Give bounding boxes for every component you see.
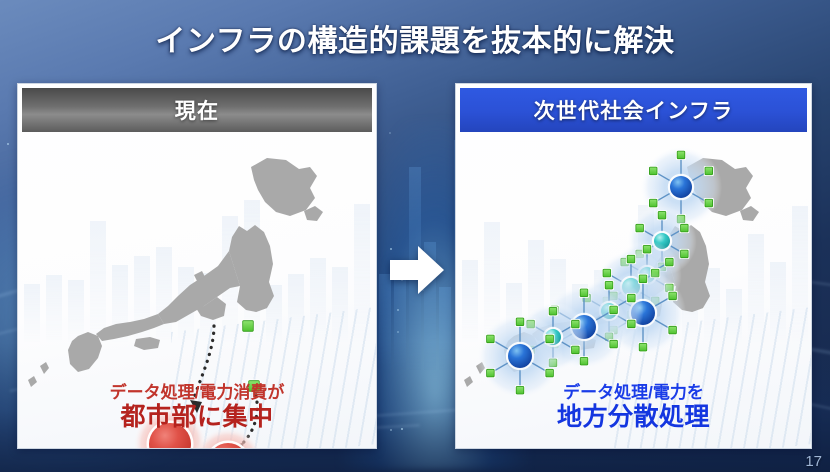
cluster-satellite-node: [626, 293, 636, 303]
panel-current-caption-line1: データ処理/電力消費が: [18, 383, 376, 403]
panel-current-caption-line2: 都市部に集中: [18, 403, 376, 433]
panel-nextgen-caption-line1: データ処理/電力を: [456, 383, 811, 403]
cluster-satellite-node: [635, 223, 645, 233]
cluster-satellite-node: [548, 306, 558, 316]
cluster-satellite-node: [609, 339, 619, 349]
cluster-satellite-node: [545, 334, 555, 344]
panel-current: 現在: [17, 83, 377, 449]
panel-nextgen: 次世代社会インフラ: [455, 83, 812, 449]
cluster-satellite-node: [485, 334, 495, 344]
panel-current-body: データ処理/電力消費が 都市部に集中: [18, 136, 376, 448]
panel-current-caption: データ処理/電力消費が 都市部に集中: [18, 383, 376, 432]
cluster-satellite-node: [579, 288, 589, 298]
panel-nextgen-caption-line2: 地方分散処理: [456, 403, 811, 433]
cluster-satellite-node: [609, 305, 619, 315]
cluster-satellite-node: [626, 319, 636, 329]
cluster-hub-sphere: [508, 344, 532, 368]
cluster-hub-sphere: [670, 176, 692, 198]
arrow-right-icon: [388, 242, 446, 298]
cluster-satellite-node: [648, 166, 658, 176]
map-landmass-current: [28, 158, 323, 387]
page-title: インフラの構造的課題を抜本的に解決: [0, 16, 830, 60]
panel-nextgen-header: 次世代社会インフラ: [460, 88, 807, 132]
panel-nextgen-caption: データ処理/電力を 地方分散処理: [456, 383, 811, 432]
panel-current-header: 現在: [22, 88, 372, 132]
slide-root: インフラの構造的課題を抜本的に解決 現在: [0, 0, 830, 472]
cluster-satellite-node: [604, 280, 614, 290]
cluster-satellite-node: [668, 291, 678, 301]
cluster-satellite-node: [679, 249, 689, 259]
cluster-satellite-node: [515, 317, 525, 327]
cluster-satellite-node: [668, 325, 678, 335]
cluster-satellite-node: [664, 257, 674, 267]
page-number: 17: [805, 453, 822, 470]
cluster-satellite-node: [704, 166, 714, 176]
cluster-satellite-node: [485, 368, 495, 378]
cluster-satellite-node: [638, 342, 648, 352]
cluster-satellite-node: [570, 345, 580, 355]
cluster-satellite-node: [648, 198, 658, 208]
cluster-satellite-node: [626, 254, 636, 264]
panel-nextgen-body: データ処理/電力を 地方分散処理: [456, 136, 811, 448]
cluster-satellite-node: [704, 198, 714, 208]
cluster-satellite-node: [570, 319, 580, 329]
cluster-satellite-node: [676, 150, 686, 160]
cluster-satellite-node: [545, 368, 555, 378]
cluster-satellite-node: [657, 210, 667, 220]
cluster-satellite-node: [638, 274, 648, 284]
node-hokkaido: [242, 320, 255, 333]
cluster-satellite-node: [679, 223, 689, 233]
